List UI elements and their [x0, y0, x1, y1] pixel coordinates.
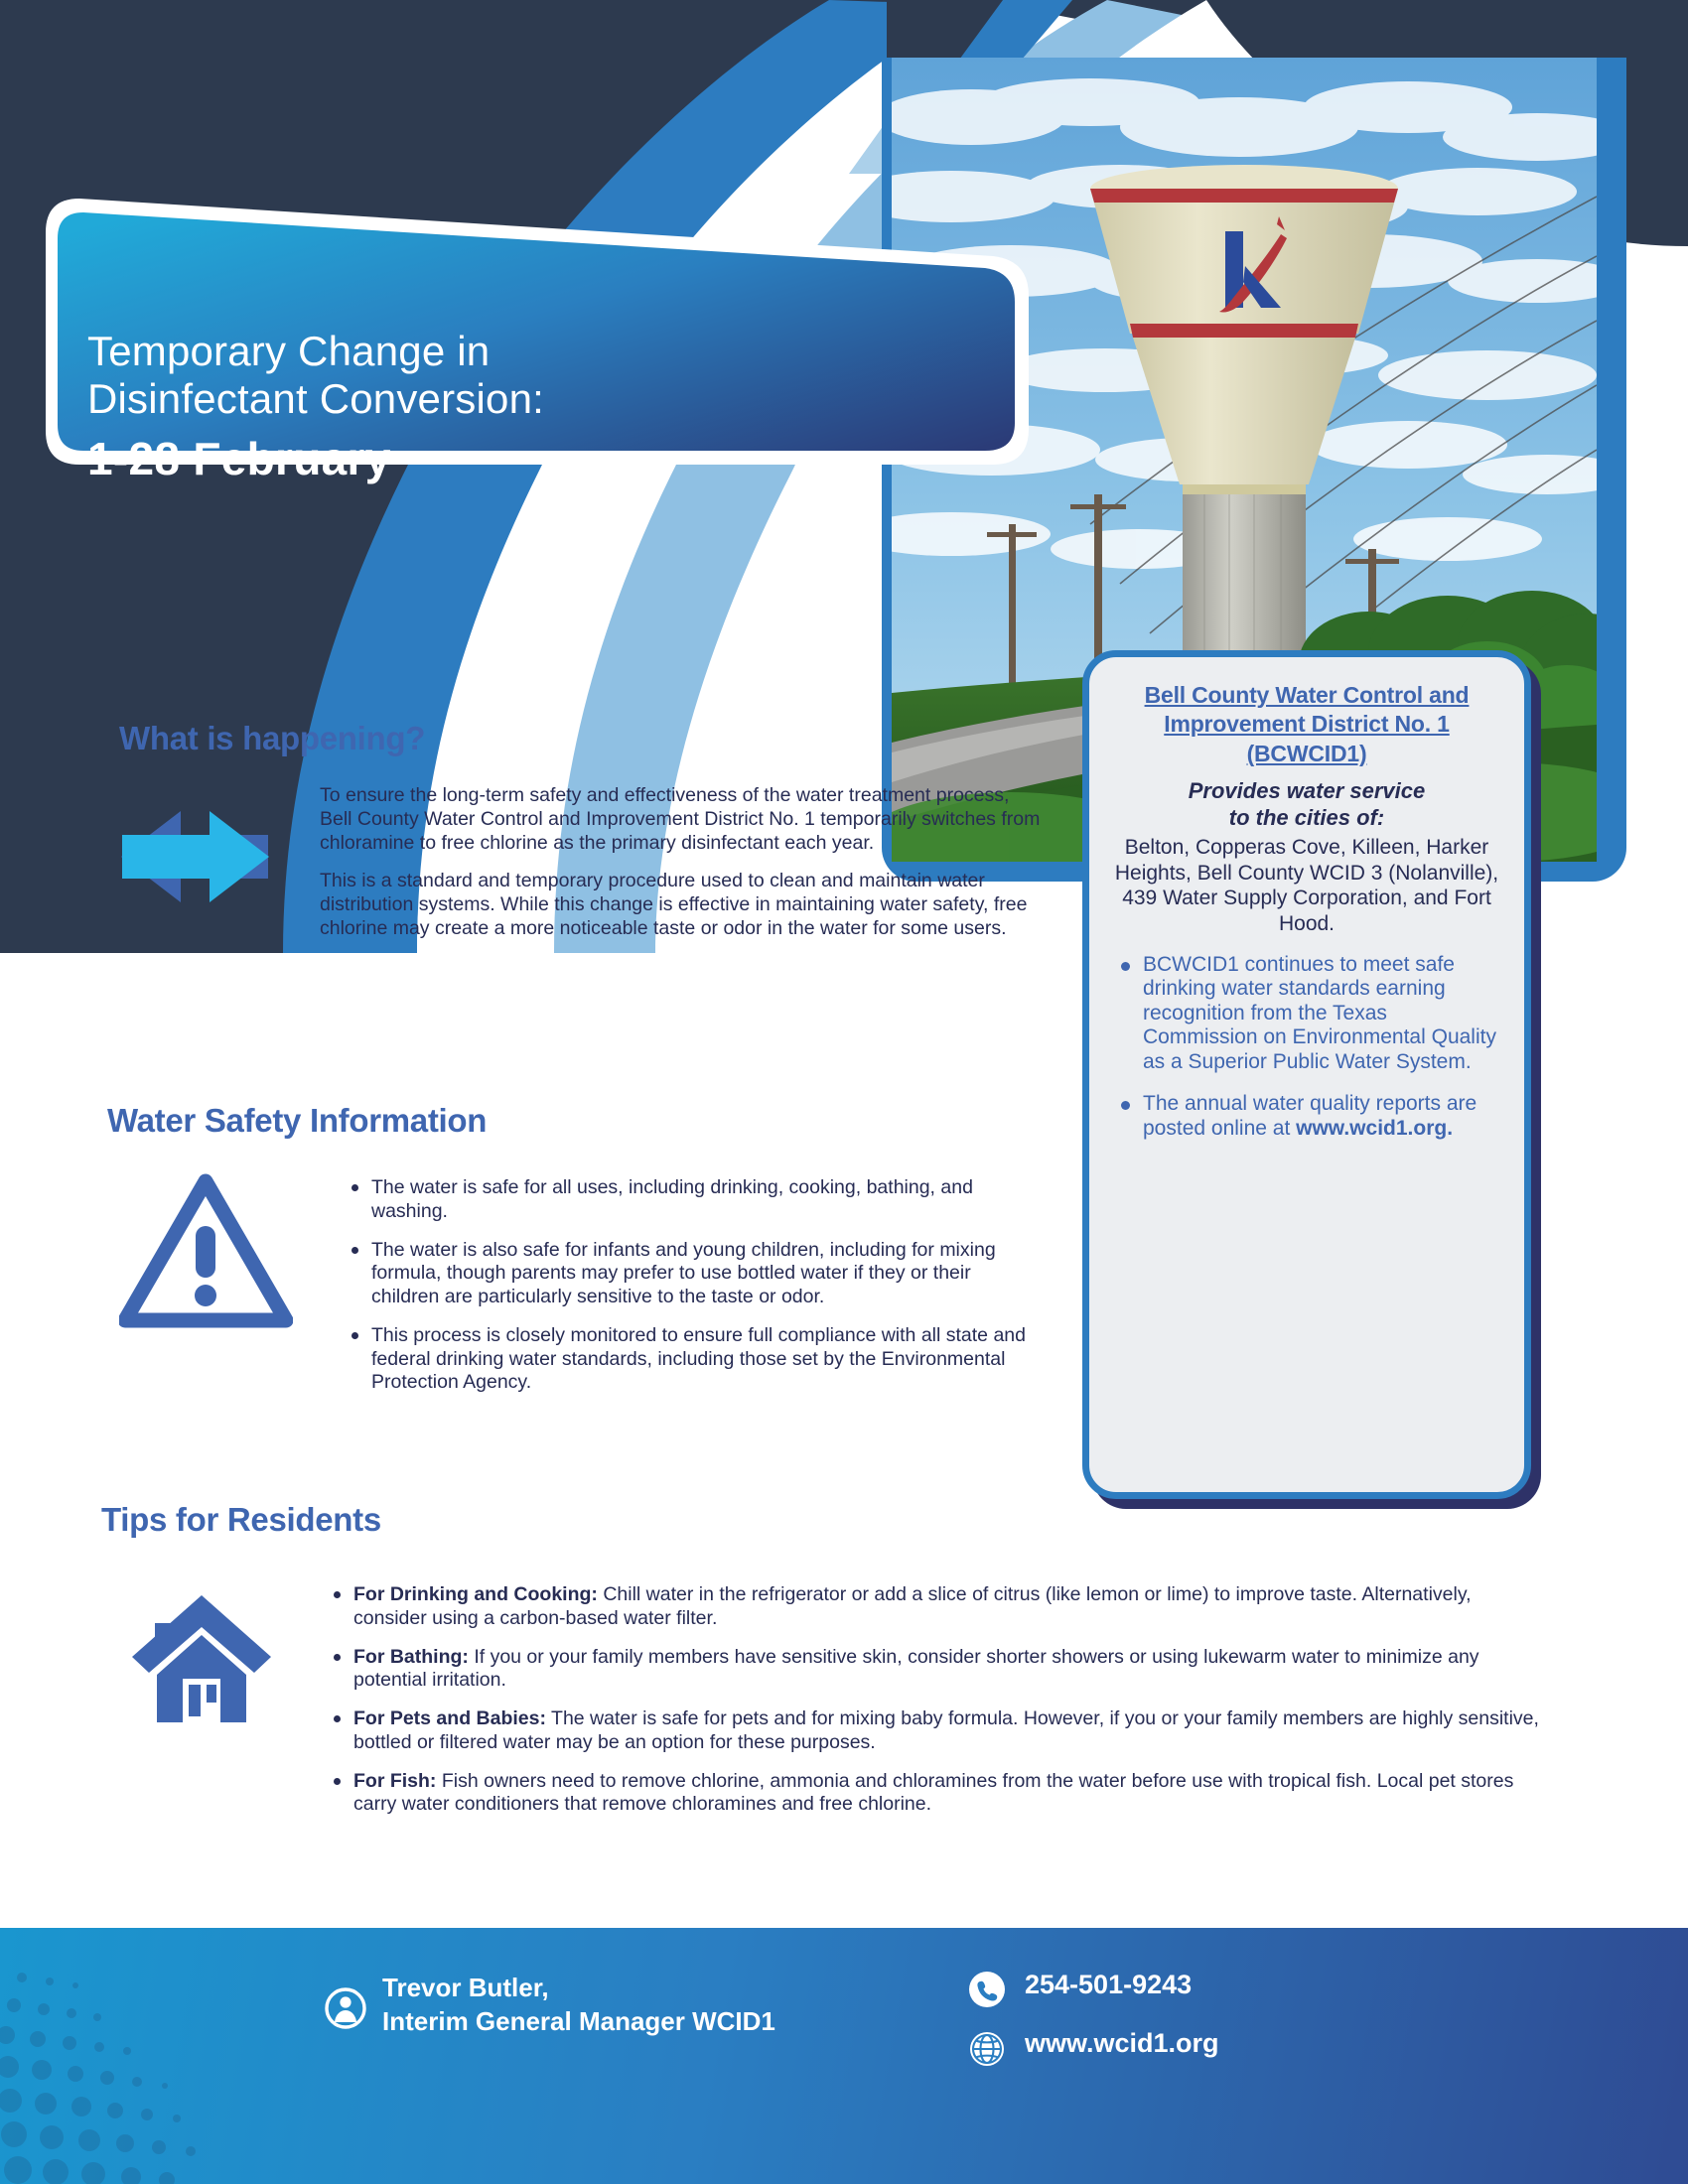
heading-tips-for-residents: Tips for Residents [101, 1501, 381, 1539]
sidebar-service-heading: Provides water service to the cities of: [1109, 778, 1504, 831]
house-icon [127, 1583, 276, 1737]
list-item: The annual water quality reports are pos… [1143, 1092, 1502, 1141]
list-item: This process is closely monitored to ens… [346, 1324, 1041, 1395]
what-is-happening-body: To ensure the long-term safety and effec… [320, 784, 1045, 955]
two-arrows-icon [119, 799, 293, 923]
list-item: The water is safe for all uses, includin… [346, 1176, 1041, 1224]
sidebar-info-card: Bell County Water Control and Improvemen… [1082, 650, 1531, 1499]
sidebar-cities-list: Belton, Copperas Cove, Killeen, Harker H… [1109, 835, 1504, 936]
heading-water-safety: Water Safety Information [107, 1102, 487, 1140]
footer-website-link[interactable]: www.wcid1.org [1025, 2028, 1219, 2059]
footer-bar [0, 1928, 1688, 2184]
tip-label: For Drinking and Cooking: [353, 1583, 598, 1605]
footer-name-line2: Interim General Manager WCID1 [382, 2004, 775, 2038]
list-item: For Fish: Fish owners need to remove chl… [328, 1770, 1544, 1818]
paragraph: To ensure the long-term safety and effec… [320, 784, 1045, 856]
list-item: For Bathing: If you or your family membe… [328, 1646, 1544, 1694]
sidebar-service-heading-line1: Provides water service [1109, 778, 1504, 804]
paragraph: This is a standard and temporary procedu… [320, 870, 1045, 941]
flyer-page: Temporary Change in Disinfectant Convers… [0, 0, 1688, 2184]
heading-what-is-happening: What is happening? [119, 720, 425, 757]
title-line-3: 1-28 February [87, 433, 842, 484]
phone-icon [968, 1971, 1006, 2013]
sidebar-bullet-1-text: BCWCID1 continues to meet safe drinking … [1143, 953, 1496, 1073]
sidebar-website-link[interactable]: www.wcid1.org. [1296, 1117, 1453, 1140]
title-line-1: Temporary Change in [87, 328, 842, 375]
sidebar-bullet-list: BCWCID1 continues to meet safe drinking … [1109, 953, 1504, 1142]
footer-name-line1: Trevor Butler, [382, 1971, 775, 2004]
list-item: For Drinking and Cooking: Chill water in… [328, 1583, 1544, 1631]
tip-label: For Pets and Babies: [353, 1707, 546, 1729]
footer-phone-number[interactable]: 254-501-9243 [1025, 1970, 1192, 2000]
title-text: Temporary Change in Disinfectant Convers… [87, 328, 842, 484]
list-item: For Pets and Babies: The water is safe f… [328, 1707, 1544, 1755]
tip-text: If you or your family members have sensi… [353, 1646, 1479, 1692]
warning-triangle-icon [119, 1171, 293, 1335]
list-item: BCWCID1 continues to meet safe drinking … [1143, 953, 1502, 1075]
sidebar-service-heading-line2: to the cities of: [1109, 805, 1504, 831]
globe-icon [967, 2029, 1007, 2074]
title-line-2: Disinfectant Conversion: [87, 375, 842, 423]
water-safety-bullets: The water is safe for all uses, includin… [346, 1176, 1041, 1410]
person-circle-icon [323, 1982, 368, 2039]
tip-label: For Bathing: [353, 1646, 469, 1668]
sidebar-org-title: Bell County Water Control and Improvemen… [1109, 681, 1504, 768]
tip-text: Fish owners need to remove chlorine, amm… [353, 1770, 1513, 1816]
tip-label: For Fish: [353, 1770, 436, 1792]
list-item: The water is also safe for infants and y… [346, 1239, 1041, 1309]
tips-bullets: For Drinking and Cooking: Chill water in… [328, 1583, 1544, 1832]
title-banner: Temporary Change in Disinfectant Convers… [40, 187, 1043, 484]
dot-pattern-decoration [0, 1936, 328, 2184]
footer-contact-name: Trevor Butler, Interim General Manager W… [382, 1971, 775, 2039]
